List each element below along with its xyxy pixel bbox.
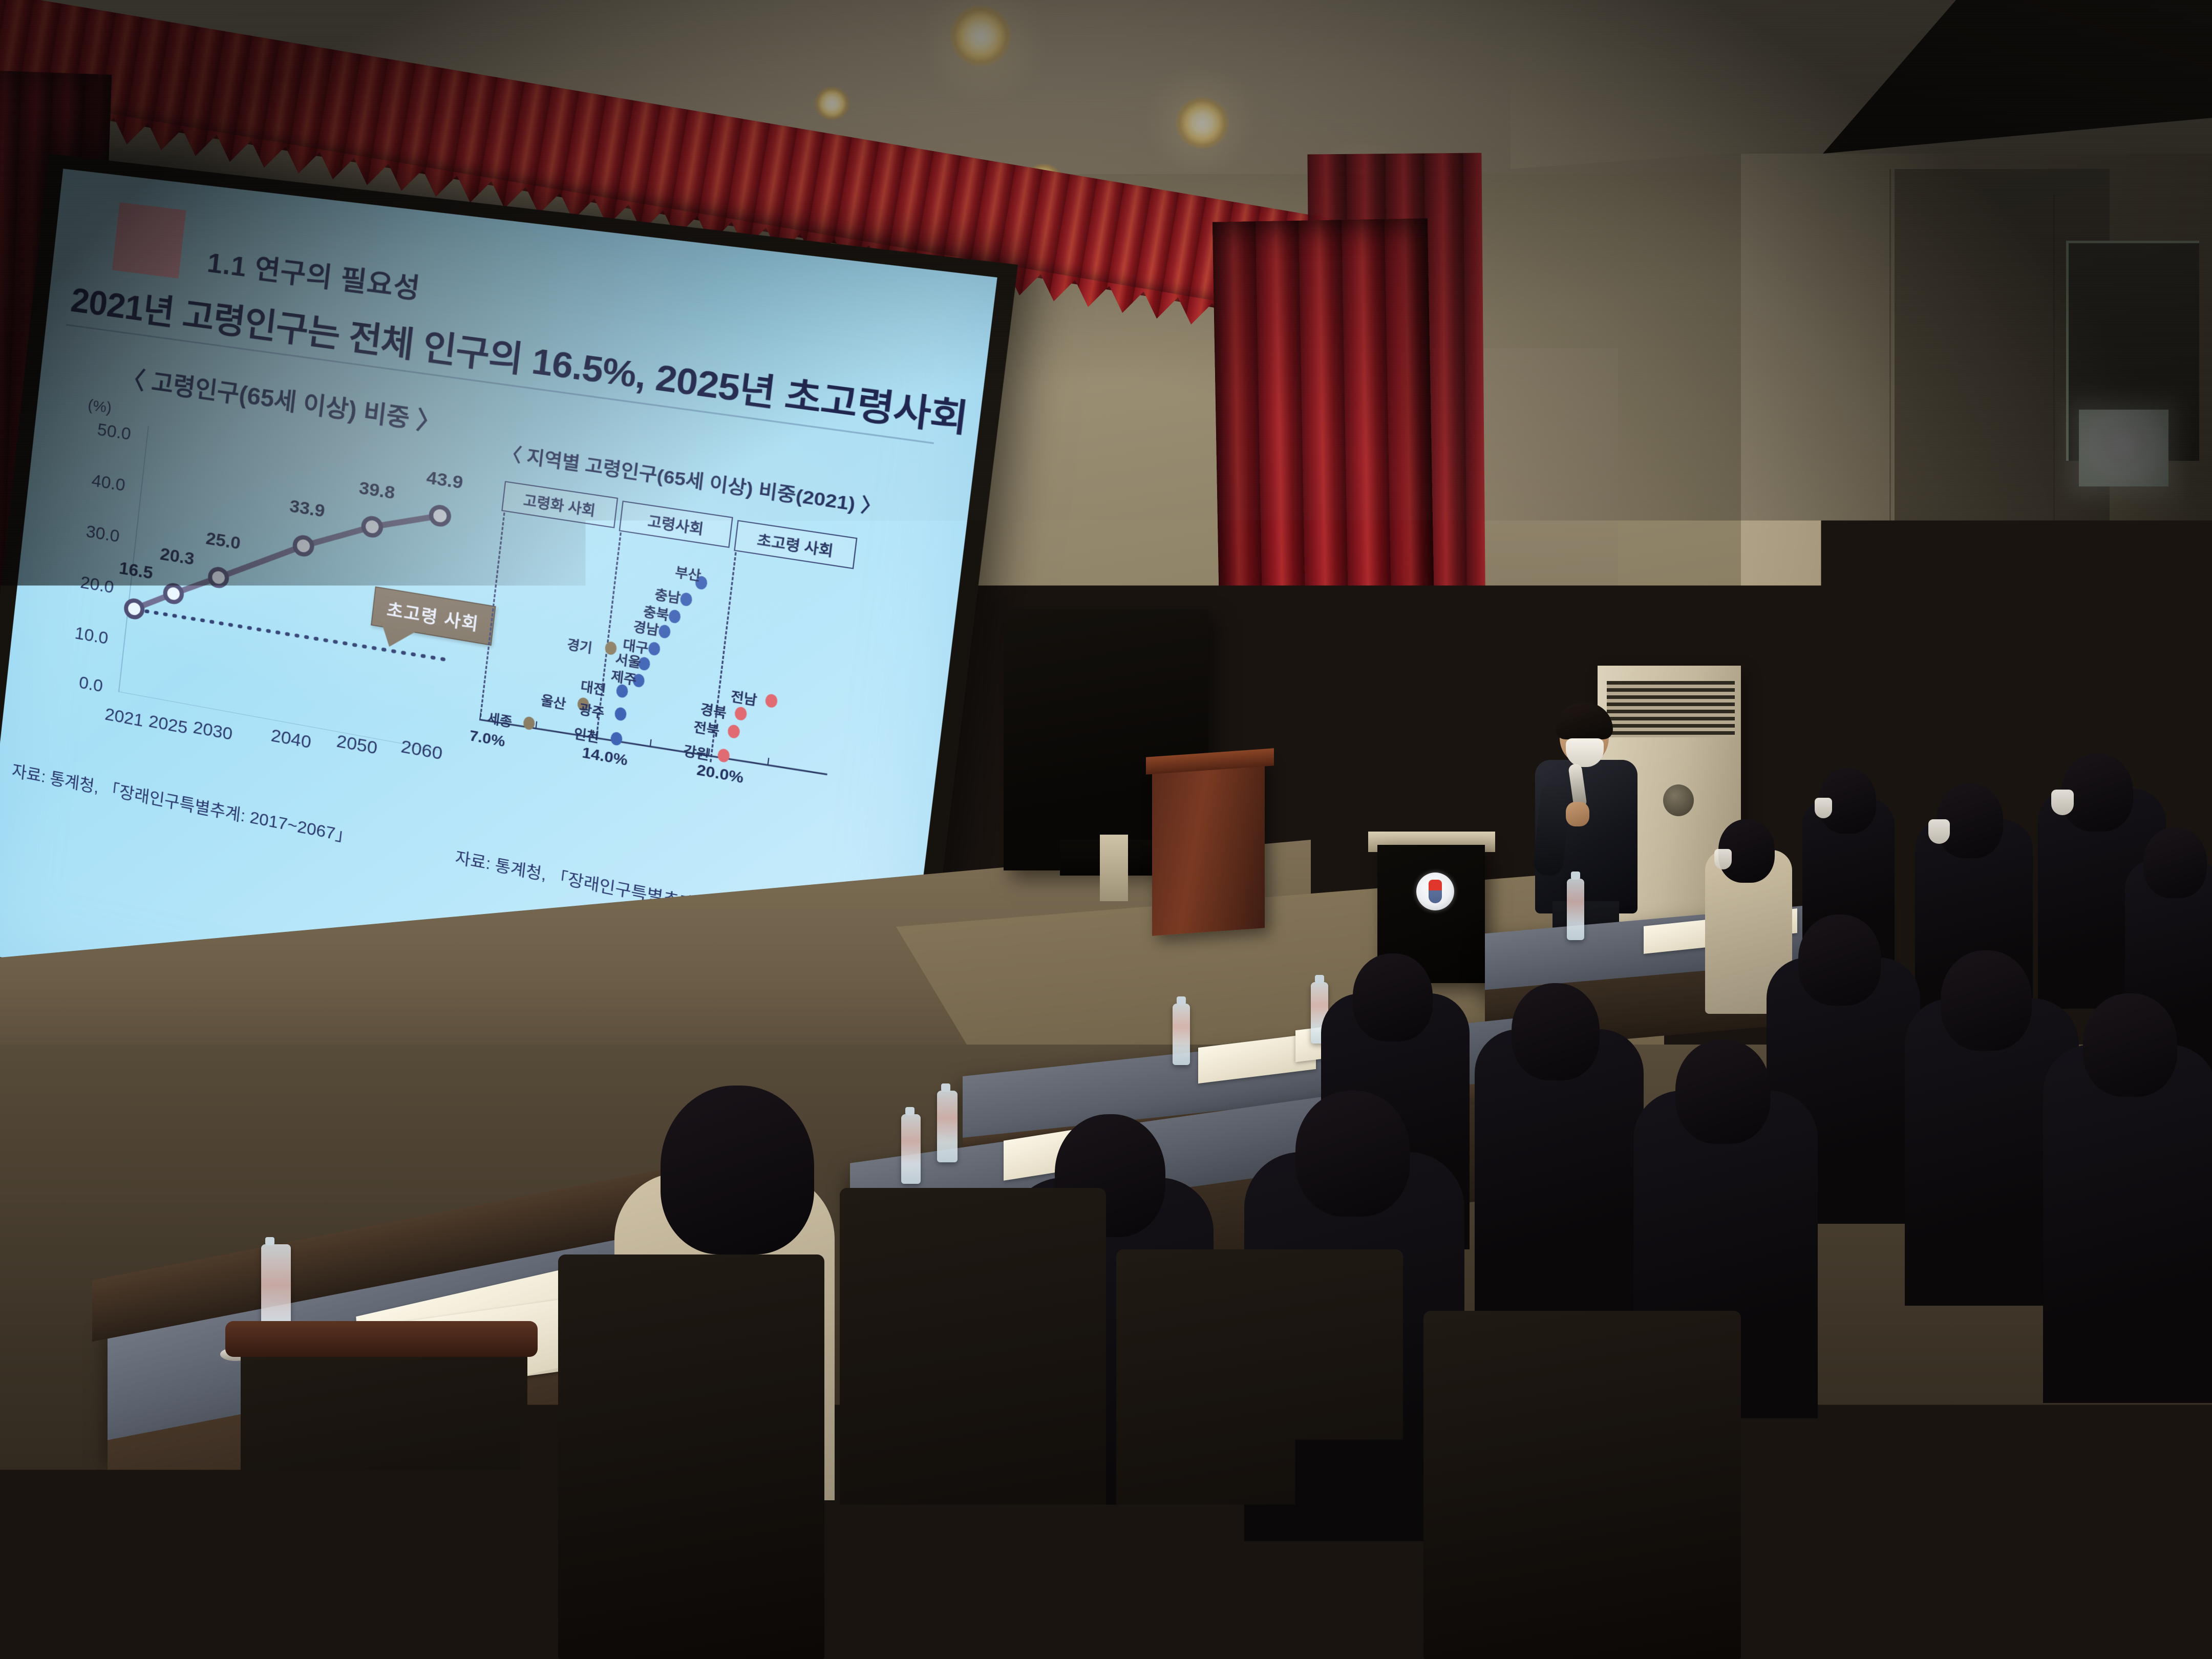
chair[interactable] [840, 1188, 1106, 1659]
audience-head [1941, 950, 2032, 1051]
line-chart-svg [113, 425, 472, 751]
chair[interactable] [241, 1336, 527, 1659]
scatter-point [727, 724, 740, 739]
institution-emblem-icon [1416, 873, 1454, 910]
scatter-point-label: 강원 [683, 740, 711, 763]
audience-head [1675, 1039, 1771, 1144]
scatter-point [764, 693, 778, 709]
scatter-x-tick-20: 20.0% [696, 761, 745, 787]
scatter-point [734, 706, 748, 721]
audience-head [1353, 953, 1433, 1041]
presenter-hair [1556, 703, 1613, 739]
x-tick-2040: 2040 [270, 726, 312, 753]
scatter-x-tick-7: 7.0% [469, 727, 506, 751]
floor-object-white [1100, 835, 1128, 901]
ceiling-downlight-icon [1175, 97, 1229, 148]
ceiling-downlight-icon [950, 5, 1011, 67]
wall-mounted-speaker [1817, 598, 1852, 665]
audience-head [2083, 993, 2177, 1097]
window-light [2079, 410, 2168, 486]
scatter-point-label: 충남 [654, 583, 682, 606]
audience-head [1295, 1091, 1410, 1217]
water-bottle [937, 1091, 958, 1162]
scatter-point-label: 경기 [566, 633, 593, 656]
y-tick-20: 20.0 [48, 567, 115, 598]
x-tick-2021: 2021 [104, 704, 144, 731]
scatter-point [717, 748, 730, 763]
scatter-x-tick-14: 14.0% [581, 744, 629, 770]
audience-member [2043, 1045, 2212, 1403]
chair-wood-trim [225, 1321, 538, 1357]
scatter-point-label: 울산 [540, 689, 567, 712]
section-accent-square [112, 202, 186, 279]
wall-alcove-panel [1475, 348, 1618, 707]
band-label-super-aged-society: 초고령 사회 [734, 520, 857, 569]
water-bottle [901, 1114, 921, 1184]
scatter-point [679, 592, 693, 607]
wooden-lectern [1152, 759, 1265, 935]
scatter-point-label: 대구 [622, 634, 650, 657]
band-label-aging-society: 고령화 사회 [501, 481, 618, 528]
scatter-point [610, 731, 623, 746]
presenter-hand [1566, 802, 1589, 826]
y-tick-30: 30.0 [53, 516, 121, 547]
water-bottle [1173, 1004, 1190, 1065]
y-tick-10: 10.0 [42, 618, 110, 649]
scatter-point [658, 624, 671, 639]
face-mask-icon [2051, 790, 2074, 815]
scatter-point-label: 광주 [578, 698, 606, 722]
wall-seam [2053, 195, 2055, 860]
presenter [1526, 707, 1649, 952]
scatter-point-label: 인천 [573, 722, 601, 746]
audience-member-light-jacket [1966, 1403, 2212, 1659]
ceiling-downlight-icon [814, 87, 850, 120]
scatter-point-label: 부산 [674, 561, 703, 584]
scatter-point [614, 707, 627, 721]
face-mask-icon [1928, 819, 1950, 844]
scatter-point [648, 641, 661, 656]
face-mask-icon [1714, 849, 1732, 869]
line-chart: (%) 50.0 40.0 30.0 20.0 10.0 0.0 [31, 397, 491, 821]
band-label-aged-society: 고령사회 [619, 501, 733, 548]
band-divider-7 [480, 513, 505, 717]
y-tick-0: 0.0 [37, 665, 104, 697]
chair[interactable] [558, 1254, 824, 1659]
audience-head [1512, 983, 1600, 1080]
scatter-point-label: 전남 [730, 685, 758, 709]
scatter-point [668, 609, 682, 624]
auditorium-scene: 1.1 연구의 필요성 2021년 고령인구는 전체 인구의 16.5%, 20… [0, 0, 2212, 1659]
y-tick-40: 40.0 [59, 465, 126, 496]
audience-head [1798, 914, 1881, 1006]
water-bottle [1567, 879, 1584, 940]
audience-head [1751, 1249, 1905, 1403]
line-chart-ylabel: (%) [87, 396, 113, 417]
x-tick-2030: 2030 [192, 717, 233, 745]
scatter-point-label: 세종 [486, 707, 513, 730]
ac-control-dial[interactable] [1663, 784, 1694, 816]
regional-scatter-chart: 고령화 사회 고령사회 초고령 사회 7.0% 14.0% 20.0% 세종 [461, 480, 909, 888]
scatter-point-label: 대전 [580, 675, 607, 698]
line-chart-plot-area: 16.5 20.3 25.0 33.9 39.8 43.9 초고령 사회 [113, 425, 472, 751]
chair[interactable] [1116, 1249, 1403, 1659]
audience-head [661, 1086, 814, 1254]
wall-seam [1889, 169, 1891, 886]
x-tick-2025: 2025 [147, 711, 188, 738]
y-tick-50: 50.0 [65, 415, 132, 444]
face-mask-icon [1815, 798, 1832, 818]
audience-head [2143, 827, 2207, 898]
